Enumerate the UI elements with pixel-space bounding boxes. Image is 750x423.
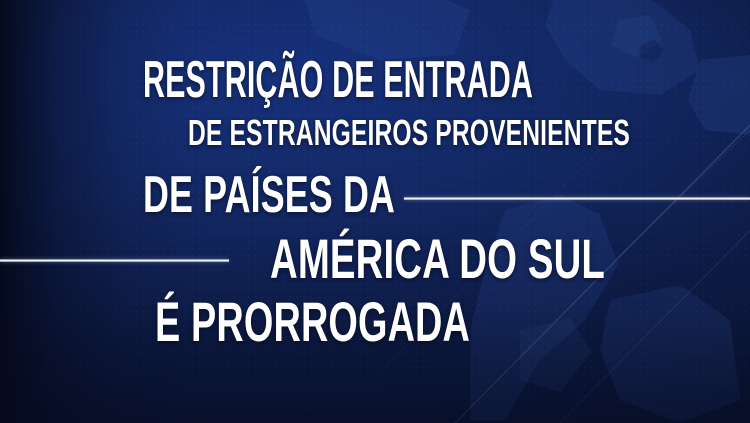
poster-banner: RESTRIÇÃO DE ENTRADA DE ESTRANGEIROS PRO… [0, 0, 750, 423]
headline-line-1-text: RESTRIÇÃO DE ENTRADA [143, 54, 533, 106]
horizontal-rule-mid-left [0, 259, 229, 262]
headline-line-2: DE ESTRANGEIROS PROVENIENTES [188, 115, 750, 151]
headline-line-3-text: DE PAÍSES DA [143, 169, 395, 221]
headline-line-5-text: É PRORROGADA [155, 294, 470, 350]
headline-line-2-text: DE ESTRANGEIROS PROVENIENTES [188, 115, 630, 151]
headline-line-1: RESTRIÇÃO DE ENTRADA [143, 54, 750, 106]
headline-line-5: É PRORROGADA [155, 294, 621, 350]
headline-line-4: AMÉRICA DO SUL [270, 231, 750, 287]
headline-line-3: DE PAÍSES DA [143, 169, 509, 221]
headline-line-4-text: AMÉRICA DO SUL [270, 231, 605, 287]
